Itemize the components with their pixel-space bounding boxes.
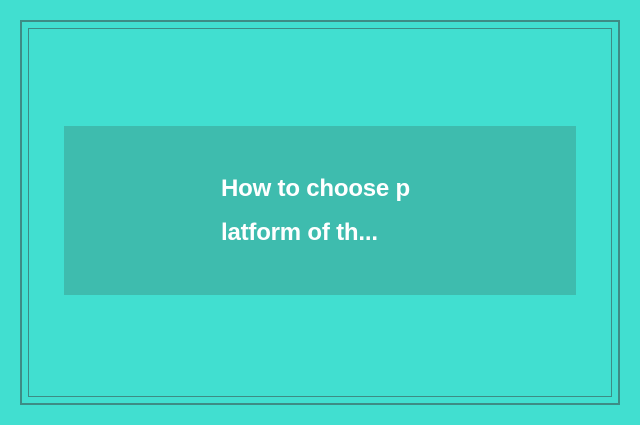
- title-line-2: latform of th...: [221, 211, 566, 255]
- thumbnail-canvas: How to choose p latform of th...: [0, 0, 640, 425]
- title-overlay-panel: How to choose p latform of th...: [64, 126, 576, 295]
- title-text-block: How to choose p latform of th...: [64, 167, 576, 255]
- title-line-1: How to choose p: [221, 167, 566, 211]
